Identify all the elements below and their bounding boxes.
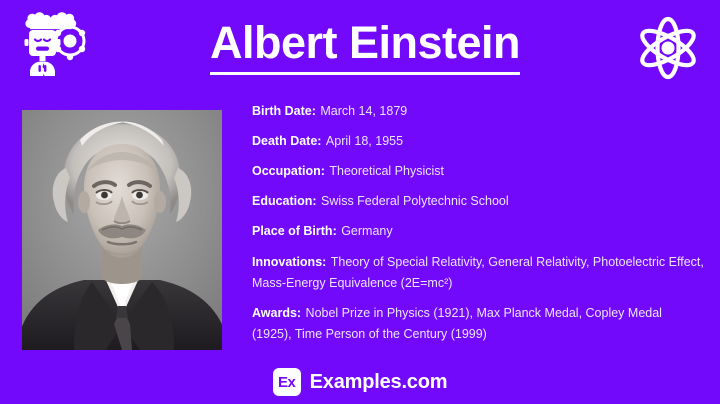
- facts-list: Birth Date: March 14, 1879 Death Date: A…: [252, 100, 704, 353]
- fact-label-innovations: Innovations:: [252, 255, 326, 269]
- fact-death-date: Death Date: April 18, 1955: [252, 130, 704, 151]
- footer-branding: Ex Examples.com: [0, 368, 720, 396]
- fact-value-birth-date: March 14, 1879: [320, 104, 407, 118]
- fact-value-death-date: April 18, 1955: [326, 134, 403, 148]
- fact-label-death-date: Death Date:: [252, 134, 321, 148]
- examples-logo-text: Examples.com: [310, 371, 448, 394]
- fact-place-of-birth: Place of Birth: Germany: [252, 220, 704, 241]
- ai-brain-robot-icon: [12, 8, 90, 86]
- fact-label-education: Education:: [252, 194, 317, 208]
- atom-icon: [632, 12, 704, 84]
- header: Albert Einstein: [0, 0, 720, 94]
- fact-label-occupation: Occupation:: [252, 164, 325, 178]
- fact-value-awards: Nobel Prize in Physics (1921), Max Planc…: [252, 306, 662, 341]
- fact-value-place-of-birth: Germany: [341, 224, 392, 238]
- fact-value-education: Swiss Federal Polytechnic School: [321, 194, 509, 208]
- fact-education: Education: Swiss Federal Polytechnic Sch…: [252, 190, 704, 211]
- albert-einstein-portrait: [22, 110, 222, 350]
- fact-label-awards: Awards:: [252, 306, 301, 320]
- fact-label-birth-date: Birth Date:: [252, 104, 316, 118]
- page-title: Albert Einstein: [210, 20, 520, 75]
- examples-logo-icon: Ex: [273, 368, 301, 396]
- fact-innovations: Innovations: Theory of Special Relativit…: [252, 251, 704, 293]
- fact-value-occupation: Theoretical Physicist: [329, 164, 444, 178]
- title-container: Albert Einstein: [150, 10, 580, 84]
- fact-label-place-of-birth: Place of Birth:: [252, 224, 337, 238]
- einstein-infographic: Albert Einstein: [0, 0, 720, 404]
- fact-birth-date: Birth Date: March 14, 1879: [252, 100, 704, 121]
- fact-awards: Awards: Nobel Prize in Physics (1921), M…: [252, 302, 704, 344]
- fact-occupation: Occupation: Theoretical Physicist: [252, 160, 704, 181]
